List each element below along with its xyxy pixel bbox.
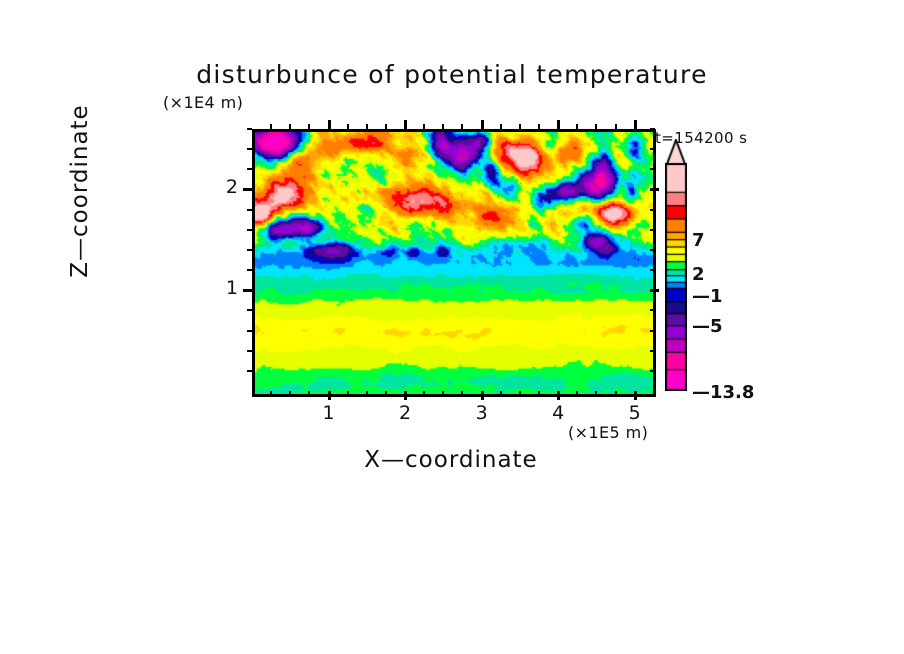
y-axis-minor-tick — [247, 168, 252, 170]
x-axis-major-tick — [634, 391, 637, 400]
y-axis-tick-label: 1 — [208, 277, 238, 299]
x-axis-minor-tick — [519, 391, 521, 396]
colorbar-tick-label: 2 — [692, 264, 705, 285]
y-axis-minor-tick — [247, 229, 252, 231]
y-axis-minor-tick-right — [650, 148, 655, 150]
x-axis-minor-tick — [423, 391, 425, 396]
colorbar-tick-label: —13.8 — [692, 382, 754, 403]
x-axis-minor-tick-top — [289, 124, 291, 129]
x-axis-major-tick-top — [634, 120, 637, 129]
y-axis-minor-tick — [247, 269, 252, 271]
x-axis-major-tick-top — [328, 120, 331, 129]
x-axis-minor-tick — [385, 391, 387, 396]
y-axis-minor-tick — [247, 309, 252, 311]
x-axis-minor-tick — [576, 391, 578, 396]
x-axis-tick-label: 5 — [615, 402, 655, 424]
colorbar-tick-label: —1 — [692, 286, 723, 307]
x-axis-minor-tick-top — [576, 124, 578, 129]
y-axis-minor-tick-right — [650, 269, 655, 271]
y-axis-minor-tick — [247, 370, 252, 372]
y-axis-minor-tick-right — [650, 370, 655, 372]
x-axis-tick-label: 2 — [385, 402, 425, 424]
y-axis-tick-label: 2 — [208, 176, 238, 198]
y-axis-minor-tick — [247, 249, 252, 251]
y-axis-minor-tick — [247, 209, 252, 211]
y-axis-minor-tick-right — [650, 128, 655, 130]
x-axis-minor-tick-top — [519, 124, 521, 129]
x-axis-major-tick — [404, 391, 407, 400]
y-axis-major-tick — [243, 188, 252, 191]
x-axis-major-tick-top — [404, 120, 407, 129]
x-axis-minor-tick — [615, 391, 617, 396]
x-axis-minor-tick — [366, 391, 368, 396]
x-axis-minor-tick — [308, 391, 310, 396]
y-axis-minor-tick-right — [650, 168, 655, 170]
x-axis-minor-tick — [500, 391, 502, 396]
colorbar-canvas — [665, 163, 687, 391]
x-axis-major-tick — [481, 391, 484, 400]
y-axis-minor-tick — [247, 128, 252, 130]
y-axis-minor-tick-right — [650, 229, 655, 231]
colorbar — [665, 163, 687, 391]
x-axis-minor-tick — [270, 391, 272, 396]
y-axis-minor-tick-right — [650, 209, 655, 211]
x-axis-minor-tick — [538, 391, 540, 396]
y-axis-minor-tick — [247, 350, 252, 352]
x-axis-minor-tick-top — [366, 124, 368, 129]
y-axis-major-tick-right — [650, 188, 659, 191]
x-axis-major-tick-top — [481, 120, 484, 129]
x-axis-minor-tick — [289, 391, 291, 396]
x-axis-minor-tick-top — [500, 124, 502, 129]
y-axis-minor-tick — [247, 148, 252, 150]
x-axis-minor-tick-top — [615, 124, 617, 129]
x-axis-minor-tick-top — [595, 124, 597, 129]
x-axis-minor-tick — [595, 391, 597, 396]
y-axis-units-label: (×1E4 m) — [163, 93, 243, 112]
x-axis-title: X—coordinate — [252, 447, 650, 473]
x-axis-major-tick — [328, 391, 331, 400]
y-axis-minor-tick-right — [650, 249, 655, 251]
x-axis-minor-tick-top — [270, 124, 272, 129]
x-axis-minor-tick-top — [423, 124, 425, 129]
y-axis-major-tick-right — [650, 289, 659, 292]
x-axis-tick-label: 1 — [309, 402, 349, 424]
x-axis-minor-tick-top — [385, 124, 387, 129]
y-axis-title: Z—coordinate — [67, 56, 93, 326]
y-axis-minor-tick-right — [650, 330, 655, 332]
x-axis-minor-tick-top — [538, 124, 540, 129]
figure-root: disturbunce of potential temperature (×1… — [0, 0, 904, 654]
x-axis-major-tick-top — [557, 120, 560, 129]
x-axis-minor-tick-top — [347, 124, 349, 129]
x-axis-tick-label: 4 — [538, 402, 578, 424]
x-axis-minor-tick — [442, 391, 444, 396]
x-axis-minor-tick — [461, 391, 463, 396]
y-axis-minor-tick-right — [650, 350, 655, 352]
colorbar-tick-label: 7 — [692, 230, 705, 251]
x-axis-minor-tick-top — [308, 124, 310, 129]
page-title: disturbunce of potential temperature — [0, 60, 904, 89]
x-axis-minor-tick-top — [461, 124, 463, 129]
x-axis-tick-label: 3 — [462, 402, 502, 424]
contour-field-canvas — [255, 132, 653, 394]
y-axis-minor-tick — [247, 330, 252, 332]
x-axis-minor-tick — [347, 391, 349, 396]
colorbar-tick-label: —5 — [692, 316, 723, 337]
x-axis-minor-tick-top — [442, 124, 444, 129]
x-axis-units-label: (×1E5 m) — [568, 423, 648, 442]
x-axis-major-tick — [557, 391, 560, 400]
contour-plot-area — [252, 129, 656, 397]
y-axis-major-tick — [243, 289, 252, 292]
y-axis-minor-tick-right — [650, 309, 655, 311]
colorbar-top-arrow-icon — [665, 139, 687, 165]
